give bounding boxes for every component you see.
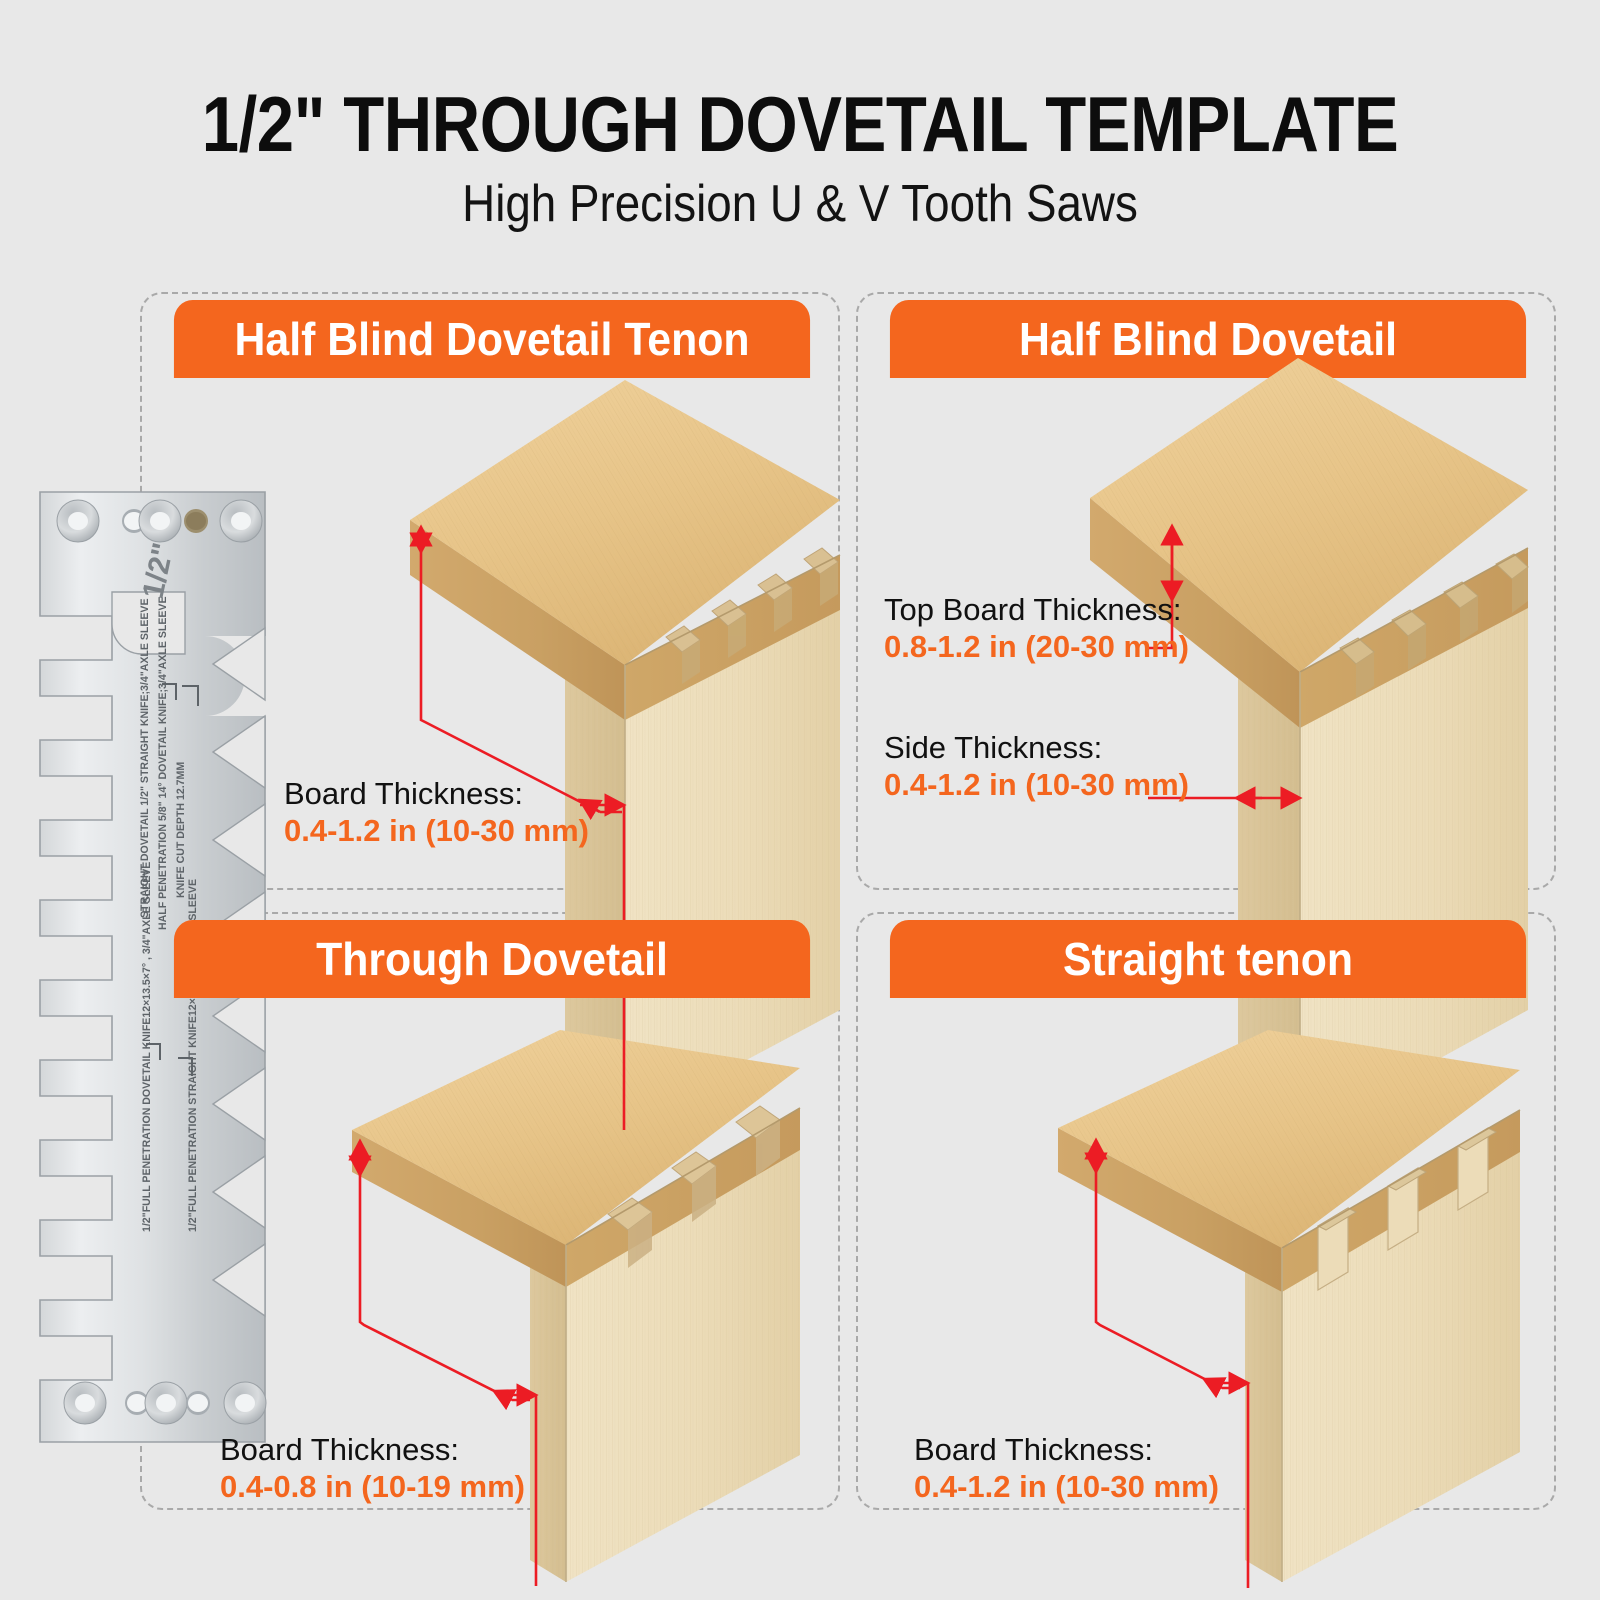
annotation-label: Side Thickness:: [884, 730, 1189, 767]
banner-label: Half Blind Dovetail Tenon: [235, 312, 750, 366]
annotation-top-board-thickness: Top Board Thickness: 0.8-1.2 in (20-30 m…: [884, 592, 1189, 665]
banner-through-dovetail: Through Dovetail: [174, 920, 810, 998]
annotation-side-thickness: Side Thickness: 0.4-1.2 in (10-30 mm): [884, 730, 1189, 803]
banner-half-blind-dovetail: Half Blind Dovetail: [890, 300, 1526, 378]
banner-label: Through Dovetail: [316, 932, 668, 986]
annotation-value: 0.4-1.2 in (10-30 mm): [884, 767, 1189, 804]
annotation-value: 0.4-0.8 in (10-19 mm): [220, 1469, 525, 1506]
banner-label: Half Blind Dovetail: [1019, 312, 1397, 366]
annotation-label: Board Thickness:: [220, 1432, 525, 1469]
banner-half-blind-dovetail-tenon: Half Blind Dovetail Tenon: [174, 300, 810, 378]
annotation-value: 0.4-1.2 in (10-30 mm): [284, 813, 589, 850]
annotation-board-thickness-br: Board Thickness: 0.4-1.2 in (10-30 mm): [914, 1432, 1219, 1505]
banner-label: Straight tenon: [1063, 932, 1353, 986]
annotation-label: Board Thickness:: [914, 1432, 1219, 1469]
page-title: 1/2" THROUGH DOVETAIL TEMPLATE: [112, 84, 1488, 166]
page-subtitle: High Precision U & V Tooth Saws: [96, 176, 1504, 233]
annotation-board-thickness-tl: Board Thickness: 0.4-1.2 in (10-30 mm): [284, 776, 589, 849]
annotation-board-thickness-bl: Board Thickness: 0.4-0.8 in (10-19 mm): [220, 1432, 525, 1505]
page-header: 1/2" THROUGH DOVETAIL TEMPLATE High Prec…: [0, 84, 1600, 233]
annotation-label: Top Board Thickness:: [884, 592, 1189, 629]
annotation-value: 0.4-1.2 in (10-30 mm): [914, 1469, 1219, 1506]
banner-straight-tenon: Straight tenon: [890, 920, 1526, 998]
annotation-value: 0.8-1.2 in (20-30 mm): [884, 629, 1189, 666]
panel-straight-tenon: [856, 912, 1556, 1510]
annotation-label: Board Thickness:: [284, 776, 589, 813]
panel-through-dovetail: [140, 912, 840, 1510]
